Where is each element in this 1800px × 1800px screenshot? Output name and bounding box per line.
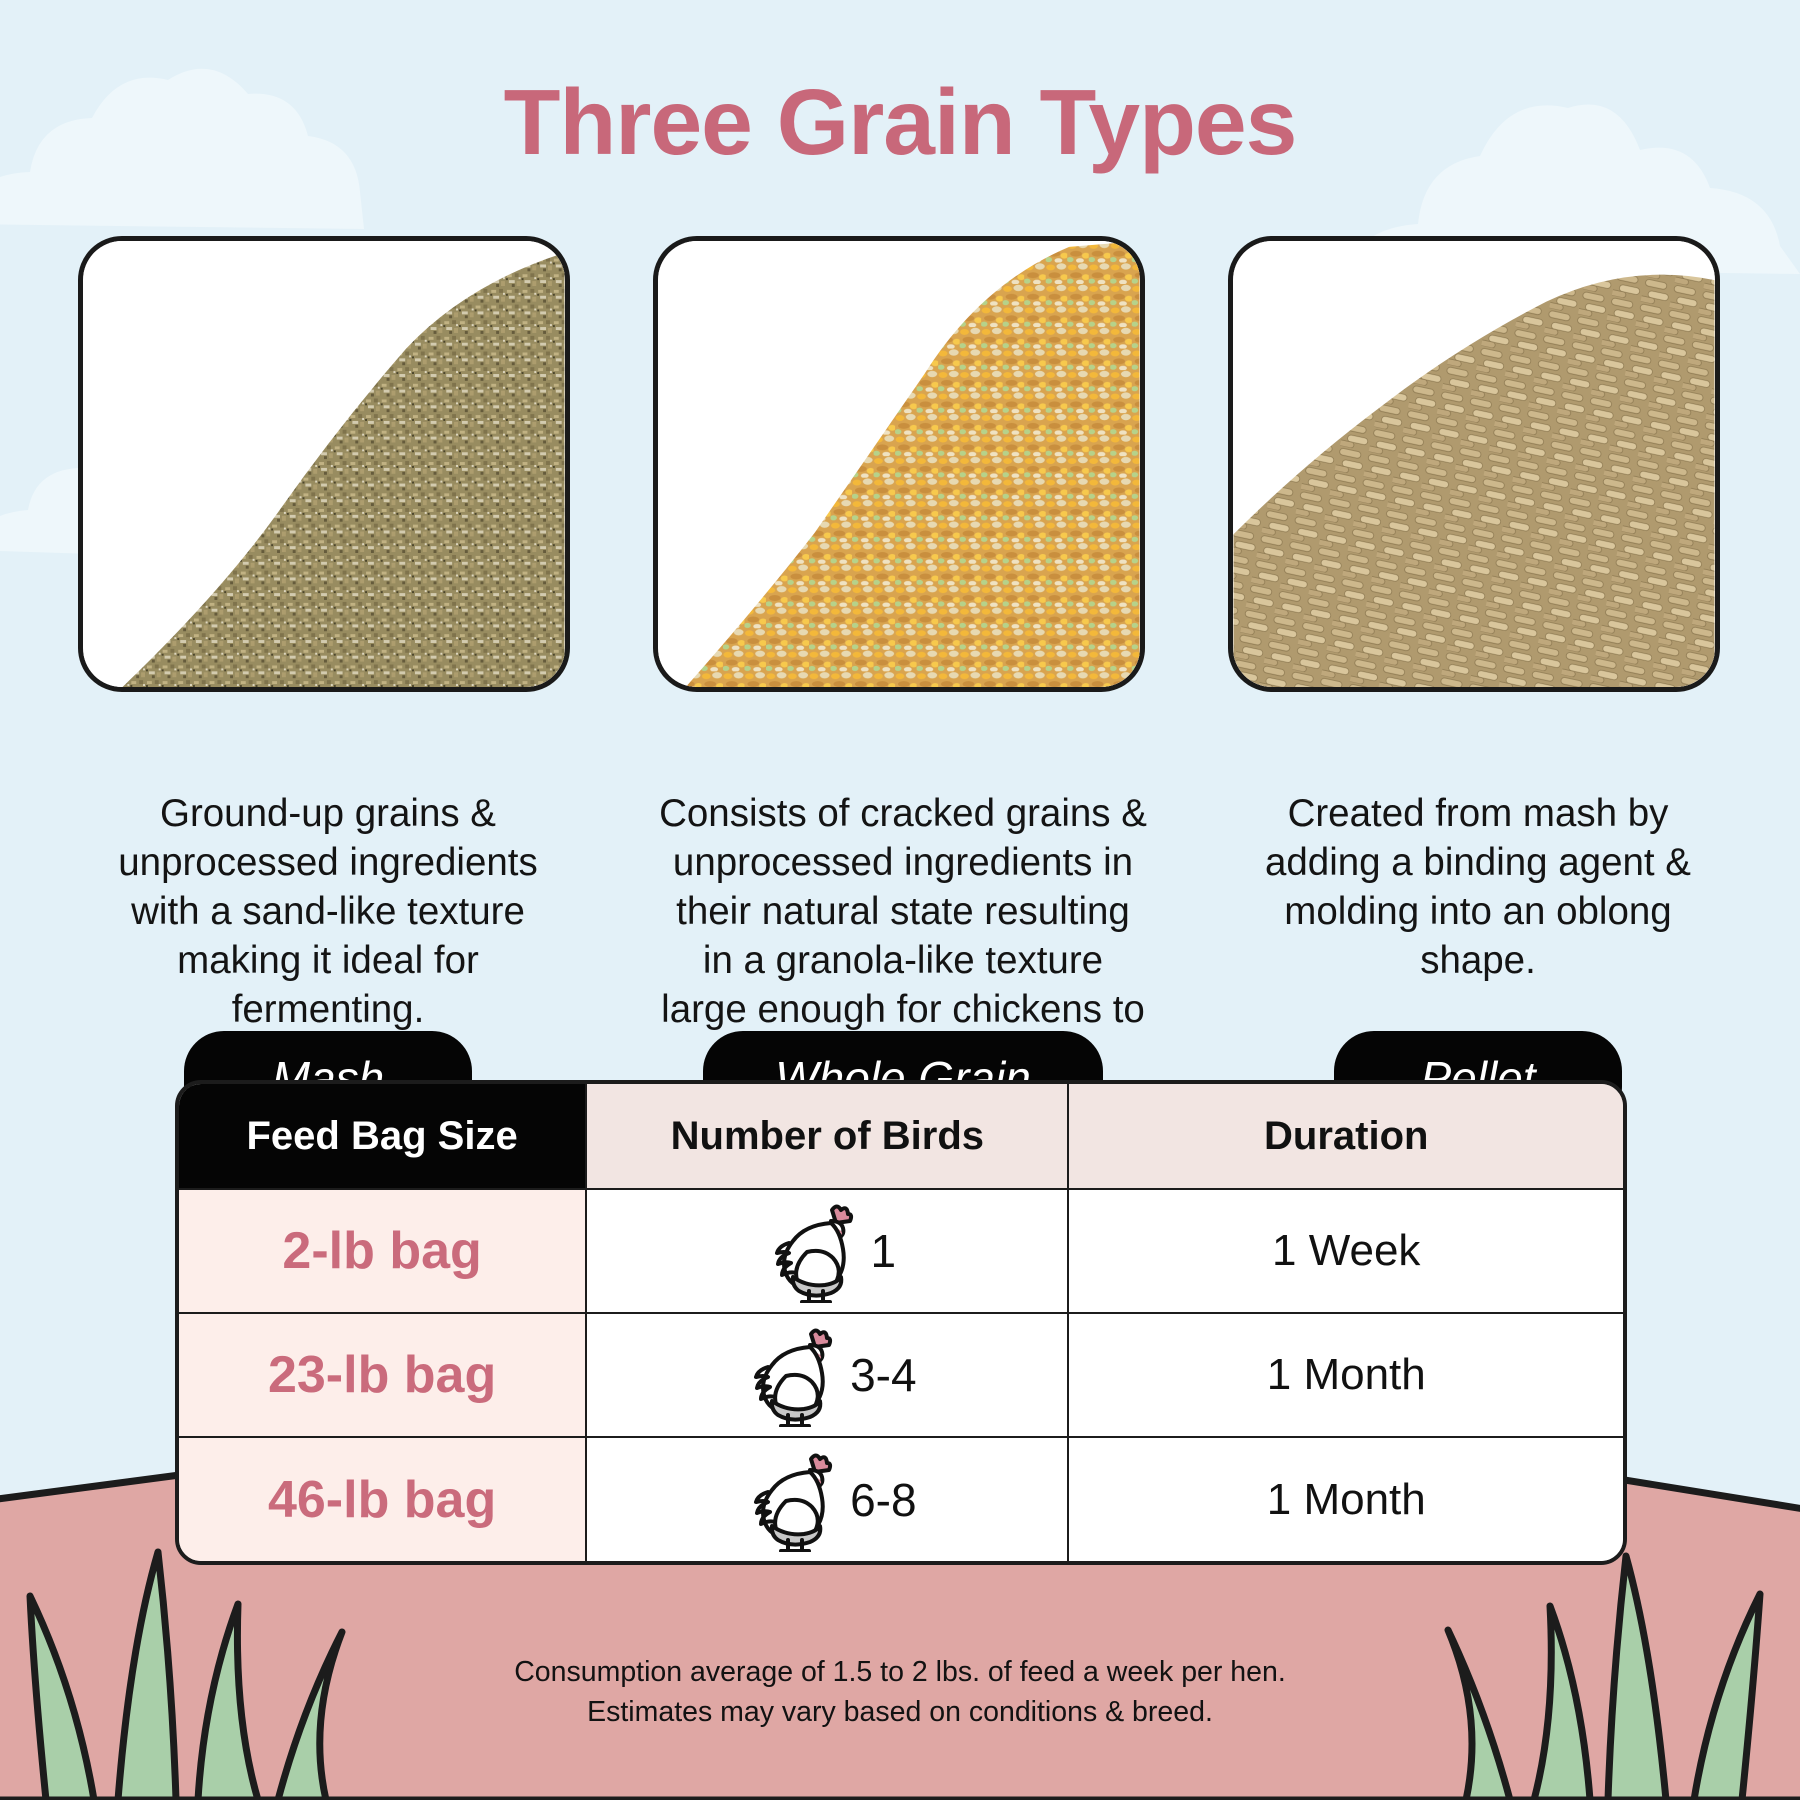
chicken-icon	[738, 1448, 834, 1552]
cell-feed-bag-size: 2-lb bag	[179, 1189, 586, 1313]
table-row: 46-lb bag	[179, 1437, 1623, 1561]
cell-duration: 1 Month	[1068, 1437, 1623, 1561]
birds-count: 1	[871, 1228, 897, 1274]
grain-description-pellet: Created from mash by adding a binding ag…	[1228, 790, 1728, 986]
mash-grain-image	[83, 241, 565, 687]
grain-card-pellet: Pellet Created from mash by adding a bin…	[1228, 236, 1728, 1083]
grain-card-mash: Mash Ground-up grains & unprocessed ingr…	[78, 236, 578, 1083]
table-header-number-of-birds: Number of Birds	[586, 1084, 1068, 1189]
footnote-line-1: Consumption average of 1.5 to 2 lbs. of …	[0, 1652, 1800, 1692]
whole-grain-image	[658, 241, 1140, 687]
table-header-row: Feed Bag Size Number of Birds Duration	[179, 1084, 1623, 1189]
cell-feed-bag-size: 23-lb bag	[179, 1313, 586, 1437]
cell-duration: 1 Week	[1068, 1189, 1623, 1313]
cell-feed-bag-size: 46-lb bag	[179, 1437, 586, 1561]
birds-count: 3-4	[850, 1352, 916, 1398]
chicken-icon	[738, 1323, 834, 1427]
footnote-line-2: Estimates may vary based on conditions &…	[0, 1692, 1800, 1732]
table-row: 2-lb bag	[179, 1189, 1623, 1313]
cell-duration: 1 Month	[1068, 1313, 1623, 1437]
grain-description-mash: Ground-up grains & unprocessed ingredien…	[78, 790, 578, 1034]
grain-types-row: Mash Ground-up grains & unprocessed ingr…	[78, 236, 1728, 1083]
table-header-feed-bag-size: Feed Bag Size	[179, 1084, 586, 1189]
footnote: Consumption average of 1.5 to 2 lbs. of …	[0, 1652, 1800, 1733]
cell-number-of-birds: 3-4	[586, 1313, 1068, 1437]
cell-number-of-birds: 6-8	[586, 1437, 1068, 1561]
chicken-icon	[759, 1199, 855, 1303]
grain-photo-whole-grain	[653, 236, 1145, 692]
page-title: Three Grain Types	[0, 74, 1800, 172]
table-row: 23-lb bag	[179, 1313, 1623, 1437]
grain-photo-mash	[78, 236, 570, 692]
infographic-canvas: Three Grain Types	[0, 0, 1800, 1800]
birds-count: 6-8	[850, 1477, 916, 1523]
feed-bag-table: Feed Bag Size Number of Birds Duration 2…	[175, 1080, 1627, 1565]
pellet-grain-image	[1233, 241, 1715, 687]
grain-photo-pellet	[1228, 236, 1720, 692]
grain-card-whole-grain: Whole Grain Consists of cracked grains &…	[653, 236, 1153, 1083]
table-header-duration: Duration	[1068, 1084, 1623, 1189]
cell-number-of-birds: 1	[586, 1189, 1068, 1313]
